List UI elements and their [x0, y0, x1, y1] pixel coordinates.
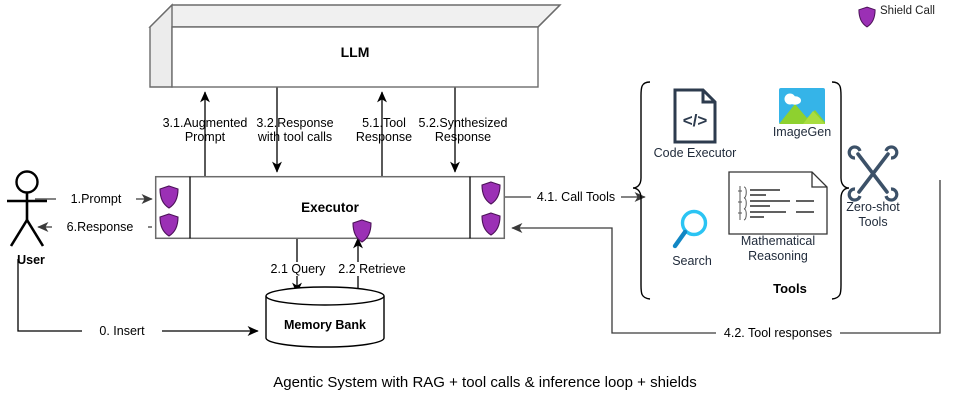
edge-label-tool-responses: 4.2. Tool responses	[716, 326, 840, 340]
formula-document-icon[interactable]	[728, 171, 828, 235]
edge-label-call-tools: 4.1. Call Tools	[531, 190, 621, 204]
edge-label-synthesized-response: 5.2.Synthesized Response	[398, 116, 528, 144]
user-actor[interactable]	[5, 170, 60, 250]
shield-icon	[481, 181, 501, 205]
crossed-wrenches-icon[interactable]	[850, 148, 896, 200]
edge-label-query: 2.1 Query	[262, 262, 334, 276]
llm-label: LLM	[150, 44, 560, 60]
tool-label-code-executor: Code Executor	[645, 146, 745, 161]
diagram-caption: Agentic System with RAG + tool calls & i…	[0, 374, 970, 391]
shield-icon	[481, 212, 501, 236]
edge-label-prompt: 1.Prompt	[56, 192, 136, 206]
memory-bank-node[interactable]	[265, 286, 385, 348]
tool-label-zero-shot-tools: Zero-shot Tools	[838, 200, 908, 229]
edge-label-insert: 0. Insert	[82, 324, 162, 338]
tool-label-imagegen: ImageGen	[757, 125, 847, 140]
shield-icon	[352, 219, 372, 243]
code-document-icon[interactable]: </>	[672, 88, 718, 144]
memory-bank-label: Memory Bank	[265, 318, 385, 332]
svg-text:</>: </>	[683, 111, 708, 130]
image-photo-icon[interactable]	[779, 88, 825, 124]
magnifier-icon[interactable]	[672, 208, 712, 252]
edge-label-retrieve: 2.2 Retrieve	[332, 262, 412, 276]
tools-group-label: Tools	[700, 281, 880, 296]
executor-label: Executor	[155, 200, 505, 215]
tool-label-mathematical-reasoning: Mathematical Reasoning	[718, 234, 838, 263]
legend-label: Shield Call	[880, 5, 935, 17]
shield-icon	[159, 213, 179, 237]
user-label: User	[0, 253, 62, 267]
edge-label-response: 6.Response	[52, 220, 148, 234]
shield-icon	[159, 185, 179, 209]
shield-icon	[858, 6, 876, 28]
